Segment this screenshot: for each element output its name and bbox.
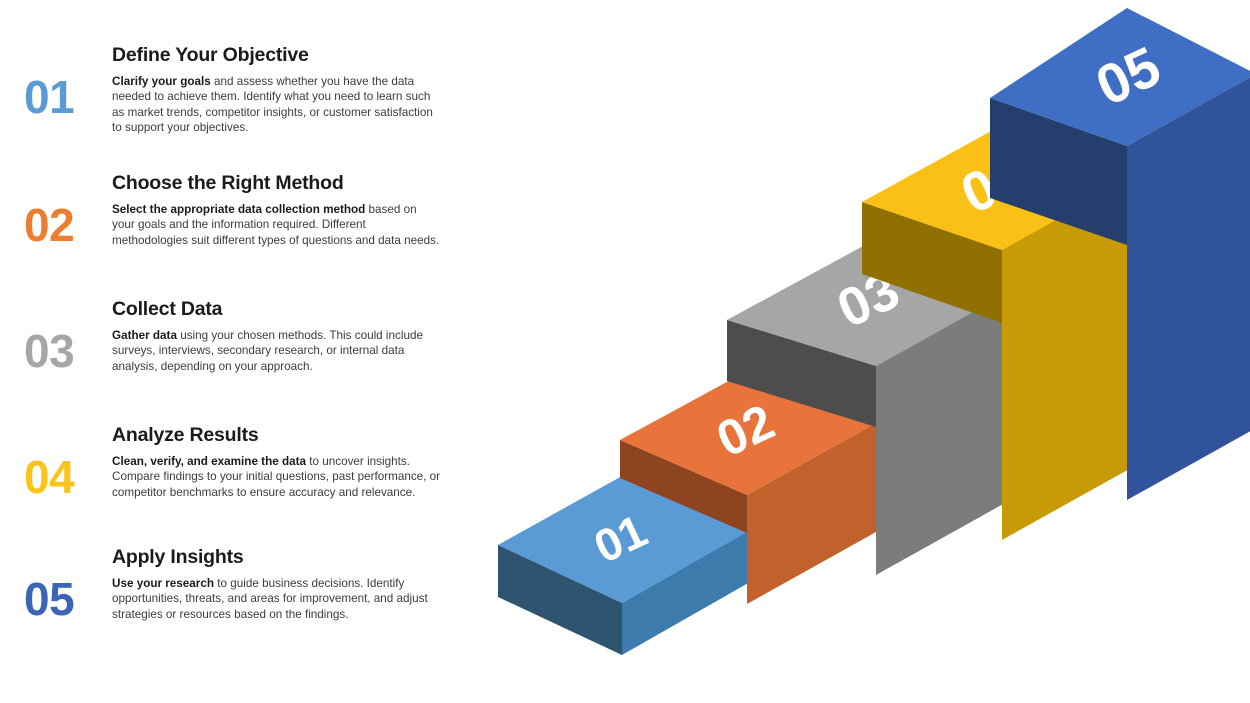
step-body-04: Analyze Results Clean, verify, and exami… (112, 424, 442, 500)
infographic-slide: 01 Define Your Objective Clarify your go… (0, 0, 1250, 703)
step-body-05: Apply Insights Use your research to guid… (112, 546, 442, 622)
step-number-01: 01 (24, 74, 104, 120)
staircase-svg: 01 02 03 04 (470, 0, 1250, 703)
isometric-staircase: 01 02 03 04 (470, 0, 1250, 703)
step-title-02: Choose the Right Method (112, 172, 442, 195)
step-title-01: Define Your Objective (112, 44, 442, 67)
step-body-01: Define Your Objective Clarify your goals… (112, 44, 442, 136)
step-number-03: 03 (24, 328, 104, 374)
step-desc-04: Clean, verify, and examine the data to u… (112, 454, 442, 500)
step-number-05: 05 (24, 576, 104, 622)
step-lead-04: Clean, verify, and examine the data (112, 455, 306, 468)
step-desc-02: Select the appropriate data collection m… (112, 202, 442, 248)
step-desc-03: Gather data using your chosen methods. T… (112, 328, 442, 374)
step-body-02: Choose the Right Method Select the appro… (112, 172, 442, 248)
step-desc-01: Clarify your goals and assess whether yo… (112, 74, 442, 136)
step-title-03: Collect Data (112, 298, 442, 321)
step-lead-01: Clarify your goals (112, 75, 211, 88)
step-lead-02: Select the appropriate data collection m… (112, 203, 365, 216)
step-number-02: 02 (24, 202, 104, 248)
step-lead-05: Use your research (112, 577, 214, 590)
step-lead-03: Gather data (112, 329, 177, 342)
step-number-04: 04 (24, 454, 104, 500)
step-title-04: Analyze Results (112, 424, 442, 447)
step-desc-05: Use your research to guide business deci… (112, 576, 442, 622)
steps-column: 01 Define Your Objective Clarify your go… (0, 0, 470, 703)
block-05-right-face (1127, 74, 1250, 500)
step-body-03: Collect Data Gather data using your chos… (112, 298, 442, 374)
step-title-05: Apply Insights (112, 546, 442, 569)
